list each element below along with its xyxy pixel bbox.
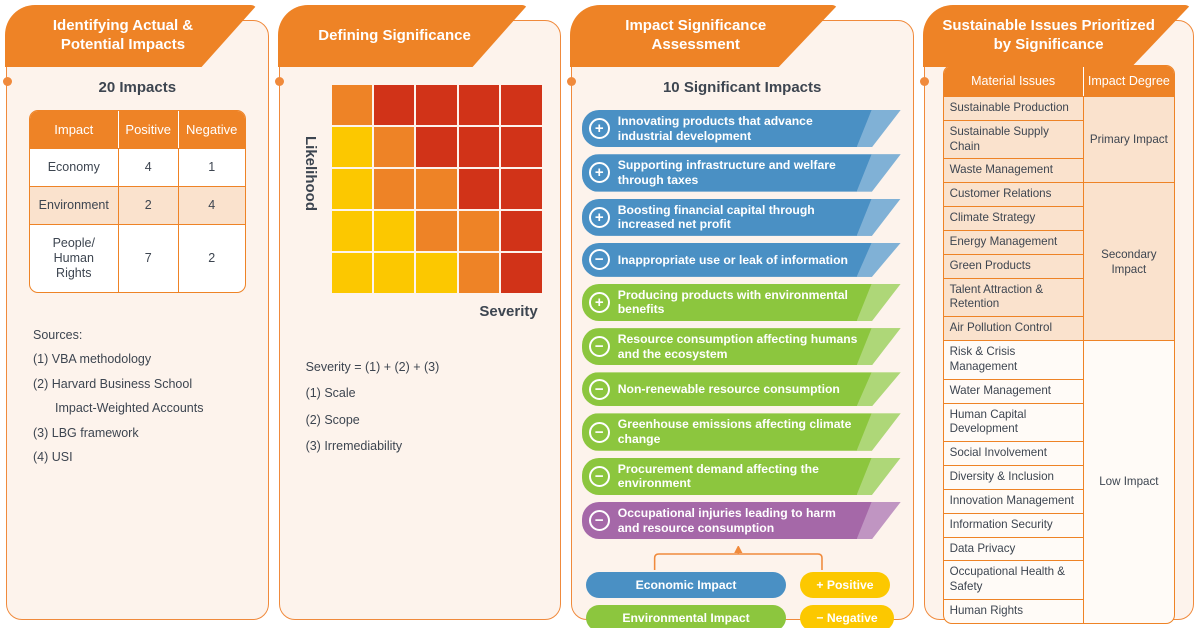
impact-bar[interactable]: −Non-renewable resource consumption (582, 372, 901, 406)
source-item-4: (4) USI (33, 445, 244, 469)
matrix-cell-r4-c5 (501, 211, 541, 251)
matrix-cell-r3-c1 (332, 169, 372, 209)
cell-material-issue: Energy Management (944, 230, 1084, 254)
matrix-cell-r1-c2 (374, 85, 414, 125)
matrix-cell-r5-c2 (374, 253, 414, 293)
bar-fold-decoration (857, 328, 901, 365)
matrix-cell-r2-c5 (501, 127, 541, 167)
cell-material-issue: Occupational Health & Safety (944, 560, 1084, 599)
legend-category-pill[interactable]: Economic Impact (586, 572, 787, 598)
impacts-count-label: 20 Impacts (7, 79, 268, 96)
legend-category-pill[interactable]: Environmental Impact (586, 605, 787, 628)
col-material-issues: Material Issues (944, 66, 1084, 96)
cell-impact-degree: Primary Impact (1084, 96, 1174, 182)
cell-material-issue: Social Involvement (944, 441, 1084, 465)
cell-material-issue: Risk & Crisis Management (944, 340, 1084, 379)
minus-circle-icon: − (589, 336, 610, 357)
bar-fold-decoration (857, 199, 901, 236)
cell-impact-label: Economy (30, 148, 119, 186)
impact-legend: Economic ImpactEnvironmental ImpactPeopl… (572, 572, 913, 628)
severity-component-2: (2) Scope (306, 407, 534, 433)
cell-material-issue: Air Pollution Control (944, 316, 1084, 340)
impact-summary-body: Economy41Environment24People/HumanRights… (30, 148, 245, 292)
cell-material-issue: Customer Relations (944, 182, 1084, 206)
bar-fold-decoration (857, 284, 901, 321)
matrix-cell-r5-c1 (332, 253, 372, 293)
legend-categories: Economic ImpactEnvironmental ImpactPeopl… (586, 572, 787, 628)
panel-prioritized-issues: Sustainable Issues Prioritized by Signif… (924, 20, 1194, 620)
table-row: Risk & Crisis ManagementLow Impact (944, 340, 1174, 379)
significant-impacts-count-label: 10 Significant Impacts (572, 79, 913, 96)
legend-sign-pill[interactable]: − Negative (800, 605, 893, 628)
legend-sign-pill[interactable]: + Positive (800, 572, 889, 598)
cell-negative-count: 1 (179, 148, 245, 186)
cell-material-issue: Information Security (944, 513, 1084, 537)
cell-material-issue: Human Capital Development (944, 403, 1084, 442)
plus-circle-icon: + (589, 292, 610, 313)
source-item-2: (2) Harvard Business School (33, 372, 244, 396)
panel-title-defining-significance: Defining Significance (278, 5, 528, 67)
significant-impacts-list: +Innovating products that advance indust… (572, 110, 913, 539)
cell-positive-count: 7 (119, 224, 179, 292)
cell-material-issue: Waste Management (944, 158, 1084, 182)
matrix-cell-r1-c4 (459, 85, 499, 125)
matrix-cell-r3-c2 (374, 169, 414, 209)
panel-title-impact-assessment: Impact Significance Assessment (570, 5, 838, 67)
impact-bar[interactable]: +Innovating products that advance indust… (582, 110, 901, 147)
cell-impact-label: Environment (30, 186, 119, 224)
panel-defining-significance: Defining Significance Likelihood Severit… (279, 20, 561, 620)
matrix-cell-r1-c5 (501, 85, 541, 125)
impact-bar-label: Non-renewable resource consumption (618, 382, 840, 397)
impact-bar-label: Innovating products that advance industr… (618, 114, 861, 143)
bar-fold-decoration (857, 243, 901, 277)
matrix-cell-r3-c5 (501, 169, 541, 209)
col-negative: Negative (179, 111, 245, 148)
cell-material-issue: Green Products (944, 254, 1084, 278)
matrix-x-axis-label: Severity (298, 293, 542, 320)
cell-negative-count: 2 (179, 224, 245, 292)
minus-circle-icon: − (589, 510, 610, 531)
cell-material-issue: Talent Attraction & Retention (944, 278, 1084, 317)
minus-circle-icon: − (589, 466, 610, 487)
cell-material-issue: Sustainable Production (944, 96, 1084, 120)
cell-negative-count: 4 (179, 186, 245, 224)
connector-arrow-icon (572, 546, 913, 572)
bar-fold-decoration (857, 413, 901, 450)
matrix-cell-r4-c2 (374, 211, 414, 251)
impact-bar[interactable]: −Inappropriate use or leak of informatio… (582, 243, 901, 277)
table-row: Sustainable ProductionPrimary Impact (944, 96, 1174, 120)
impact-bar-label: Greenhouse emissions affecting climate c… (618, 417, 861, 446)
panel-title-identifying-impacts: Identifying Actual & Potential Impacts (5, 5, 257, 67)
matrix-cell-r4-c3 (416, 211, 456, 251)
impact-bar[interactable]: +Supporting infrastructure and welfare t… (582, 154, 901, 191)
source-item-2-cont: Impact-Weighted Accounts (33, 396, 244, 420)
cell-material-issue: Data Privacy (944, 537, 1084, 561)
table-row: Economy41 (30, 148, 245, 186)
matrix-cell-r2-c1 (332, 127, 372, 167)
source-item-3: (3) LBG framework (33, 421, 244, 445)
panel-title-prioritized-issues: Sustainable Issues Prioritized by Signif… (923, 5, 1191, 67)
minus-circle-icon: − (589, 422, 610, 443)
matrix-cell-r4-c4 (459, 211, 499, 251)
table-row: People/HumanRights72 (30, 224, 245, 292)
impact-bar-label: Boosting financial capital through incre… (618, 203, 861, 232)
matrix-y-axis-label: Likelihood (298, 85, 324, 293)
cell-material-issue: Innovation Management (944, 489, 1084, 513)
source-item-1: (1) VBA methodology (33, 347, 244, 371)
severity-component-3: (3) Irremediability (306, 433, 534, 459)
matrix-cell-r5-c3 (416, 253, 456, 293)
cell-material-issue: Human Rights (944, 599, 1084, 623)
panel-identifying-impacts: Identifying Actual & Potential Impacts 2… (6, 20, 269, 620)
severity-formula-block: Severity = (1) + (2) + (3) (1) Scale (2)… (280, 320, 560, 459)
impact-bar-label: Supporting infrastructure and welfare th… (618, 158, 861, 187)
matrix-cell-r2-c3 (416, 127, 456, 167)
cell-impact-degree: Low Impact (1084, 340, 1174, 623)
matrix-cell-r2-c4 (459, 127, 499, 167)
impact-summary-table-wrap: Impact Positive Negative Economy41Enviro… (7, 110, 268, 293)
cell-material-issue: Climate Strategy (944, 206, 1084, 230)
table-header-row: Impact Positive Negative (30, 111, 245, 148)
matrix-cell-r5-c5 (501, 253, 541, 293)
bar-fold-decoration (857, 458, 901, 495)
bar-fold-decoration (857, 502, 901, 539)
cell-material-issue: Sustainable Supply Chain (944, 120, 1084, 159)
cell-impact-degree: Secondary Impact (1084, 182, 1174, 340)
risk-matrix-grid (332, 85, 542, 293)
severity-formula: Severity = (1) + (2) + (3) (306, 354, 534, 380)
table-row: Customer RelationsSecondary Impact (944, 182, 1174, 206)
col-impact: Impact (30, 111, 119, 148)
bar-fold-decoration (857, 110, 901, 147)
cell-material-issue: Water Management (944, 379, 1084, 403)
bar-fold-decoration (857, 372, 901, 406)
legend-signs: + Positive− Negative (800, 572, 893, 628)
cell-positive-count: 2 (119, 186, 179, 224)
impact-bar-label: Inappropriate use or leak of information (618, 253, 848, 268)
cell-impact-label: People/HumanRights (30, 224, 119, 292)
matrix-cell-r3-c4 (459, 169, 499, 209)
minus-circle-icon: − (589, 379, 610, 400)
impact-bar[interactable]: +Boosting financial capital through incr… (582, 199, 901, 236)
material-issues-table-wrap: Material Issues Impact Degree Sustainabl… (925, 65, 1193, 624)
cell-positive-count: 4 (119, 148, 179, 186)
legend-connector (572, 546, 913, 572)
col-impact-degree: Impact Degree (1084, 66, 1174, 96)
impact-bar-label: Occupational injuries leading to harm an… (618, 506, 861, 535)
matrix-cell-r5-c4 (459, 253, 499, 293)
table-row: Environment24 (30, 186, 245, 224)
matrix-cell-r1-c1 (332, 85, 372, 125)
impact-bar-label: Procurement demand affecting the environ… (618, 462, 861, 491)
matrix-cell-r3-c3 (416, 169, 456, 209)
matrix-cell-r1-c3 (416, 85, 456, 125)
impact-bar[interactable]: −Procurement demand affecting the enviro… (582, 458, 901, 495)
impact-bar[interactable]: −Resource consumption affecting humans a… (582, 328, 901, 365)
plus-circle-icon: + (589, 118, 610, 139)
plus-circle-icon: + (589, 207, 610, 228)
severity-component-1: (1) Scale (306, 380, 534, 406)
impact-bar[interactable]: +Producing products with environmental b… (582, 284, 901, 321)
table-header-row: Material Issues Impact Degree (944, 66, 1174, 96)
infographic-board: Identifying Actual & Potential Impacts 2… (0, 0, 1200, 628)
panel-impact-significance-assessment: Impact Significance Assessment 10 Signif… (571, 20, 914, 620)
material-issues-table: Material Issues Impact Degree Sustainabl… (943, 65, 1175, 624)
impact-bar[interactable]: −Occupational injuries leading to harm a… (582, 502, 901, 539)
material-issues-body: Sustainable ProductionPrimary ImpactSust… (944, 96, 1174, 623)
impact-bar[interactable]: −Greenhouse emissions affecting climate … (582, 413, 901, 450)
plus-circle-icon: + (589, 162, 610, 183)
impact-bar-label: Resource consumption affecting humans an… (618, 332, 861, 361)
impact-summary-table: Impact Positive Negative Economy41Enviro… (29, 110, 246, 293)
impact-bar-label: Producing products with environmental be… (618, 288, 861, 317)
col-positive: Positive (119, 111, 179, 148)
cell-material-issue: Diversity & Inclusion (944, 465, 1084, 489)
sources-block: Sources: (1) VBA methodology (2) Harvard… (7, 293, 268, 469)
minus-circle-icon: − (589, 249, 610, 270)
matrix-cell-r2-c2 (374, 127, 414, 167)
risk-matrix-area: Likelihood Severity (280, 75, 560, 320)
panel-connector-dot (3, 77, 12, 86)
bar-fold-decoration (857, 154, 901, 191)
matrix-cell-r4-c1 (332, 211, 372, 251)
sources-heading: Sources: (33, 323, 244, 347)
